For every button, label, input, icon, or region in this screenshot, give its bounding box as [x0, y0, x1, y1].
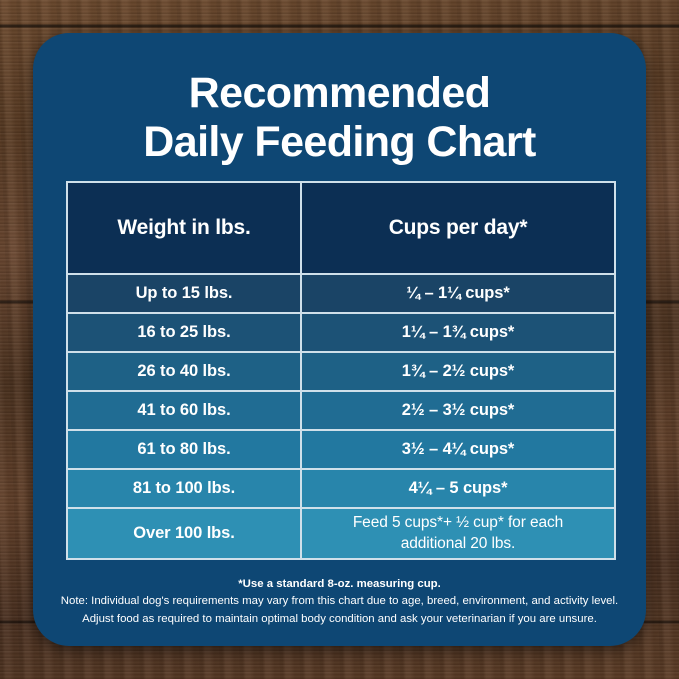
table-row: 61 to 80 lbs. 3½ – 4¼ cups* [67, 430, 615, 469]
table-row: 26 to 40 lbs. 1¾ – 2½ cups* [67, 352, 615, 391]
table-row: 16 to 25 lbs. 1¼ – 1¾ cups* [67, 313, 615, 352]
cell-cups-line-2: additional 20 lbs. [401, 535, 516, 552]
cell-cups: 2½ – 3½ cups* [301, 391, 615, 430]
page-title-line-2: Daily Feeding Chart [33, 118, 646, 167]
column-header-weight: Weight in lbs. [67, 182, 301, 274]
cell-cups-line-1: Feed 5 cups*+ ½ cup* for each [353, 514, 563, 531]
cell-weight: 61 to 80 lbs. [67, 430, 301, 469]
cell-weight: 81 to 100 lbs. [67, 469, 301, 508]
cell-cups: Feed 5 cups*+ ½ cup* for each additional… [301, 508, 615, 559]
cell-weight: Up to 15 lbs. [67, 274, 301, 313]
cell-cups: 1¾ – 2½ cups* [301, 352, 615, 391]
table-header-row: Weight in lbs. Cups per day* [67, 182, 615, 274]
page-title: Recommended Daily Feeding Chart [33, 69, 646, 167]
column-header-cups: Cups per day* [301, 182, 615, 274]
footnote-adjust: Adjust food as required to maintain opti… [53, 611, 626, 628]
footnotes: *Use a standard 8-oz. measuring cup. Not… [53, 576, 626, 628]
cell-cups: 4¼ – 5 cups* [301, 469, 615, 508]
cell-cups: ¼ – 1¼ cups* [301, 274, 615, 313]
cell-weight: 16 to 25 lbs. [67, 313, 301, 352]
table-row: 41 to 60 lbs. 2½ – 3½ cups* [67, 391, 615, 430]
feeding-chart-table: Weight in lbs. Cups per day* Up to 15 lb… [66, 181, 616, 560]
feeding-chart-card: Recommended Daily Feeding Chart Weight i… [33, 33, 646, 646]
page-title-line-1: Recommended [33, 69, 646, 118]
table-row: 81 to 100 lbs. 4¼ – 5 cups* [67, 469, 615, 508]
footnote-measuring-cup: *Use a standard 8-oz. measuring cup. [53, 576, 626, 593]
table-row: Over 100 lbs. Feed 5 cups*+ ½ cup* for e… [67, 508, 615, 559]
cell-cups: 3½ – 4¼ cups* [301, 430, 615, 469]
cell-cups: 1¼ – 1¾ cups* [301, 313, 615, 352]
cell-weight: 26 to 40 lbs. [67, 352, 301, 391]
cell-weight: Over 100 lbs. [67, 508, 301, 559]
cell-weight-text: Over 100 lbs. [133, 524, 234, 542]
cell-weight: 41 to 60 lbs. [67, 391, 301, 430]
footnote-note: Note: Individual dog's requirements may … [53, 593, 626, 610]
table-row: Up to 15 lbs. ¼ – 1¼ cups* [67, 274, 615, 313]
